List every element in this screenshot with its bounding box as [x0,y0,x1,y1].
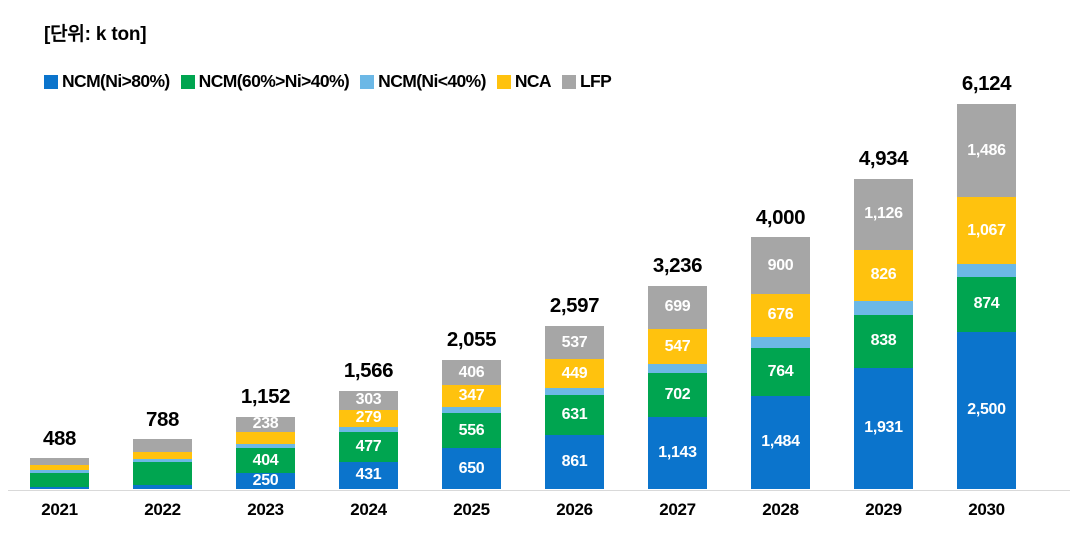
bar-segment-value-2027-lfp: 699 [665,299,691,315]
bar-segment-2021-ncm_low[interactable] [30,470,89,472]
bar-segment-value-2029-ncm_mid: 838 [871,333,897,349]
bar-segment-2028-lfp[interactable]: 900 [751,237,810,294]
bar-segment-value-2030-lfp: 1,486 [967,143,1006,159]
bar-stack-2026: 861631449537 [545,326,604,489]
bar-segment-value-2023-ncm_mid: 404 [253,453,279,469]
bar-group-2030[interactable]: 2,5008741,0671,4866,1242030 [935,0,1038,539]
bar-segment-2028-ncm_mid[interactable]: 764 [751,348,810,396]
bar-stack-2029: 1,9318388261,126 [854,179,913,489]
bar-segment-2030-ncm_high[interactable]: 2,500 [957,332,1016,489]
bar-segment-value-2026-ncm_mid: 631 [562,407,588,423]
bar-total-label-2026: 2,597 [523,296,626,317]
bar-segment-value-2025-nca: 347 [459,388,485,404]
x-axis-label-2021: 2021 [8,500,111,520]
bar-stack-2024: 431477279303 [339,391,398,489]
bar-segment-value-2029-lfp: 1,126 [864,206,903,222]
bar-segment-2022-lfp[interactable] [133,439,192,451]
bar-segment-2030-ncm_low[interactable] [957,264,1016,276]
bar-total-label-2024: 1,566 [317,361,420,382]
bar-stack-2027: 1,143702547699 [648,286,707,490]
bar-segment-value-2025-ncm_mid: 556 [459,423,485,439]
bar-group-2024[interactable]: 4314772793031,5662024 [317,0,420,539]
bar-segment-2021-ncm_mid[interactable] [30,473,89,488]
bar-segment-2023-ncm_low[interactable] [236,444,295,448]
bar-total-label-2025: 2,055 [420,330,523,351]
bar-total-label-2022: 788 [111,410,214,431]
bar-total-label-2027: 3,236 [626,256,729,277]
bar-segment-2022-ncm_mid[interactable] [133,462,192,485]
bar-group-2021[interactable]: 4882021 [8,0,111,539]
bar-total-label-2028: 4,000 [729,208,832,229]
bar-segment-value-2026-nca: 449 [562,366,588,382]
bar-segment-2021-nca[interactable] [30,465,89,470]
bar-group-2025[interactable]: 6505563474062,0552025 [420,0,523,539]
bar-segment-value-2027-ncm_high: 1,143 [658,445,697,461]
bar-segment-2021-ncm_high[interactable] [30,487,89,489]
bar-segment-2030-nca[interactable]: 1,067 [957,197,1016,264]
bar-segment-value-2027-nca: 547 [665,339,691,355]
bar-segment-2024-ncm_mid[interactable]: 477 [339,432,398,462]
bar-segment-2022-nca[interactable] [133,452,192,459]
bar-segment-2027-ncm_low[interactable] [648,364,707,373]
bar-stack-2021 [30,458,89,489]
bar-segment-value-2023-lfp: 238 [253,417,279,432]
bar-segment-2024-lfp[interactable]: 303 [339,391,398,410]
bar-stack-2022 [133,439,192,489]
bar-segment-value-2028-ncm_mid: 764 [768,364,794,380]
bar-segment-2026-nca[interactable]: 449 [545,359,604,387]
bar-segment-2027-nca[interactable]: 547 [648,329,707,363]
x-axis-label-2022: 2022 [111,500,214,520]
bar-segment-2023-lfp[interactable]: 238 [236,417,295,432]
bar-total-label-2030: 6,124 [935,74,1038,95]
bar-segment-value-2024-nca: 279 [356,410,382,426]
bar-segment-value-2030-ncm_mid: 874 [974,296,1000,312]
bar-segment-2029-ncm_high[interactable]: 1,931 [854,368,913,489]
bar-segment-2028-ncm_high[interactable]: 1,484 [751,396,810,489]
bar-segment-value-2024-ncm_high: 431 [356,467,382,483]
bar-segment-2023-nca[interactable] [236,432,295,444]
bar-segment-value-2029-ncm_high: 1,931 [864,420,903,436]
bar-segment-2025-nca[interactable]: 347 [442,385,501,407]
bar-segment-value-2024-ncm_mid: 477 [356,439,382,455]
bar-segment-2026-ncm_high[interactable]: 861 [545,435,604,489]
bar-segment-value-2027-ncm_mid: 702 [665,387,691,403]
bar-segment-value-2029-nca: 826 [871,267,897,283]
bar-segment-2025-ncm_high[interactable]: 650 [442,448,501,489]
x-axis-label-2026: 2026 [523,500,626,520]
bar-segment-2025-lfp[interactable]: 406 [442,360,501,386]
x-axis-label-2023: 2023 [214,500,317,520]
bar-stack-2028: 1,484764676900 [751,237,810,489]
bar-segment-value-2025-ncm_high: 650 [459,461,485,477]
bar-segment-2027-ncm_high[interactable]: 1,143 [648,417,707,489]
bar-segment-value-2026-ncm_high: 861 [562,454,588,470]
bar-group-2026[interactable]: 8616314495372,5972026 [523,0,626,539]
bar-segment-2023-ncm_high[interactable]: 250 [236,473,295,489]
bar-total-label-2029: 4,934 [832,149,935,170]
bar-group-2023[interactable]: 2504042381,1522023 [214,0,317,539]
bar-segment-value-2028-lfp: 900 [768,258,794,274]
x-axis-label-2024: 2024 [317,500,420,520]
bar-segment-value-2028-nca: 676 [768,307,794,323]
bar-group-2029[interactable]: 1,9318388261,1264,9342029 [832,0,935,539]
bar-segment-2026-lfp[interactable]: 537 [545,326,604,360]
bar-segment-2025-ncm_low[interactable] [442,407,501,413]
x-axis-label-2028: 2028 [729,500,832,520]
bar-segment-2028-ncm_low[interactable] [751,337,810,348]
bar-stack-2030: 2,5008741,0671,486 [957,104,1016,489]
x-axis-label-2027: 2027 [626,500,729,520]
bar-segment-2022-ncm_low[interactable] [133,459,192,462]
bar-segment-value-2024-lfp: 303 [356,392,382,408]
chart-plot-area: 488202178820222504042381,152202343147727… [0,0,1078,539]
bar-segment-2029-nca[interactable]: 826 [854,250,913,302]
bar-segment-2021-lfp[interactable] [30,458,89,465]
bar-segment-2029-ncm_low[interactable] [854,301,913,314]
bar-segment-value-2026-lfp: 537 [562,335,588,351]
bar-segment-2027-ncm_mid[interactable]: 702 [648,373,707,417]
bar-group-2027[interactable]: 1,1437025476993,2362027 [626,0,729,539]
bar-segment-value-2023-ncm_high: 250 [253,473,279,489]
x-axis-label-2029: 2029 [832,500,935,520]
bar-segment-2024-ncm_low[interactable] [339,427,398,432]
bar-segment-value-2028-ncm_high: 1,484 [761,434,800,450]
bar-segment-value-2030-nca: 1,067 [967,223,1006,239]
bar-total-label-2021: 488 [8,429,111,450]
bar-group-2022[interactable]: 7882022 [111,0,214,539]
bar-total-label-2023: 1,152 [214,387,317,408]
bar-segment-2028-nca[interactable]: 676 [751,294,810,337]
bar-stack-2023: 250404238 [236,417,295,489]
bar-group-2028[interactable]: 1,4847646769004,0002028 [729,0,832,539]
bar-segment-2024-nca[interactable]: 279 [339,410,398,428]
bar-stack-2025: 650556347406 [442,360,501,489]
bar-segment-value-2030-ncm_high: 2,500 [967,402,1006,418]
bar-segment-2026-ncm_mid[interactable]: 631 [545,395,604,435]
x-axis-label-2025: 2025 [420,500,523,520]
bar-segment-2030-lfp[interactable]: 1,486 [957,104,1016,197]
bar-segment-2022-ncm_high[interactable] [133,485,192,489]
bar-segment-2029-lfp[interactable]: 1,126 [854,179,913,250]
x-axis-label-2030: 2030 [935,500,1038,520]
bar-segment-2025-ncm_mid[interactable]: 556 [442,413,501,448]
bar-segment-2023-ncm_mid[interactable]: 404 [236,448,295,473]
bar-segment-2024-ncm_high[interactable]: 431 [339,462,398,489]
bar-segment-2026-ncm_low[interactable] [545,388,604,395]
bar-segment-value-2025-lfp: 406 [459,365,485,381]
bar-segment-2027-lfp[interactable]: 699 [648,286,707,330]
bar-segment-2029-ncm_mid[interactable]: 838 [854,315,913,368]
bar-segment-2030-ncm_mid[interactable]: 874 [957,277,1016,332]
